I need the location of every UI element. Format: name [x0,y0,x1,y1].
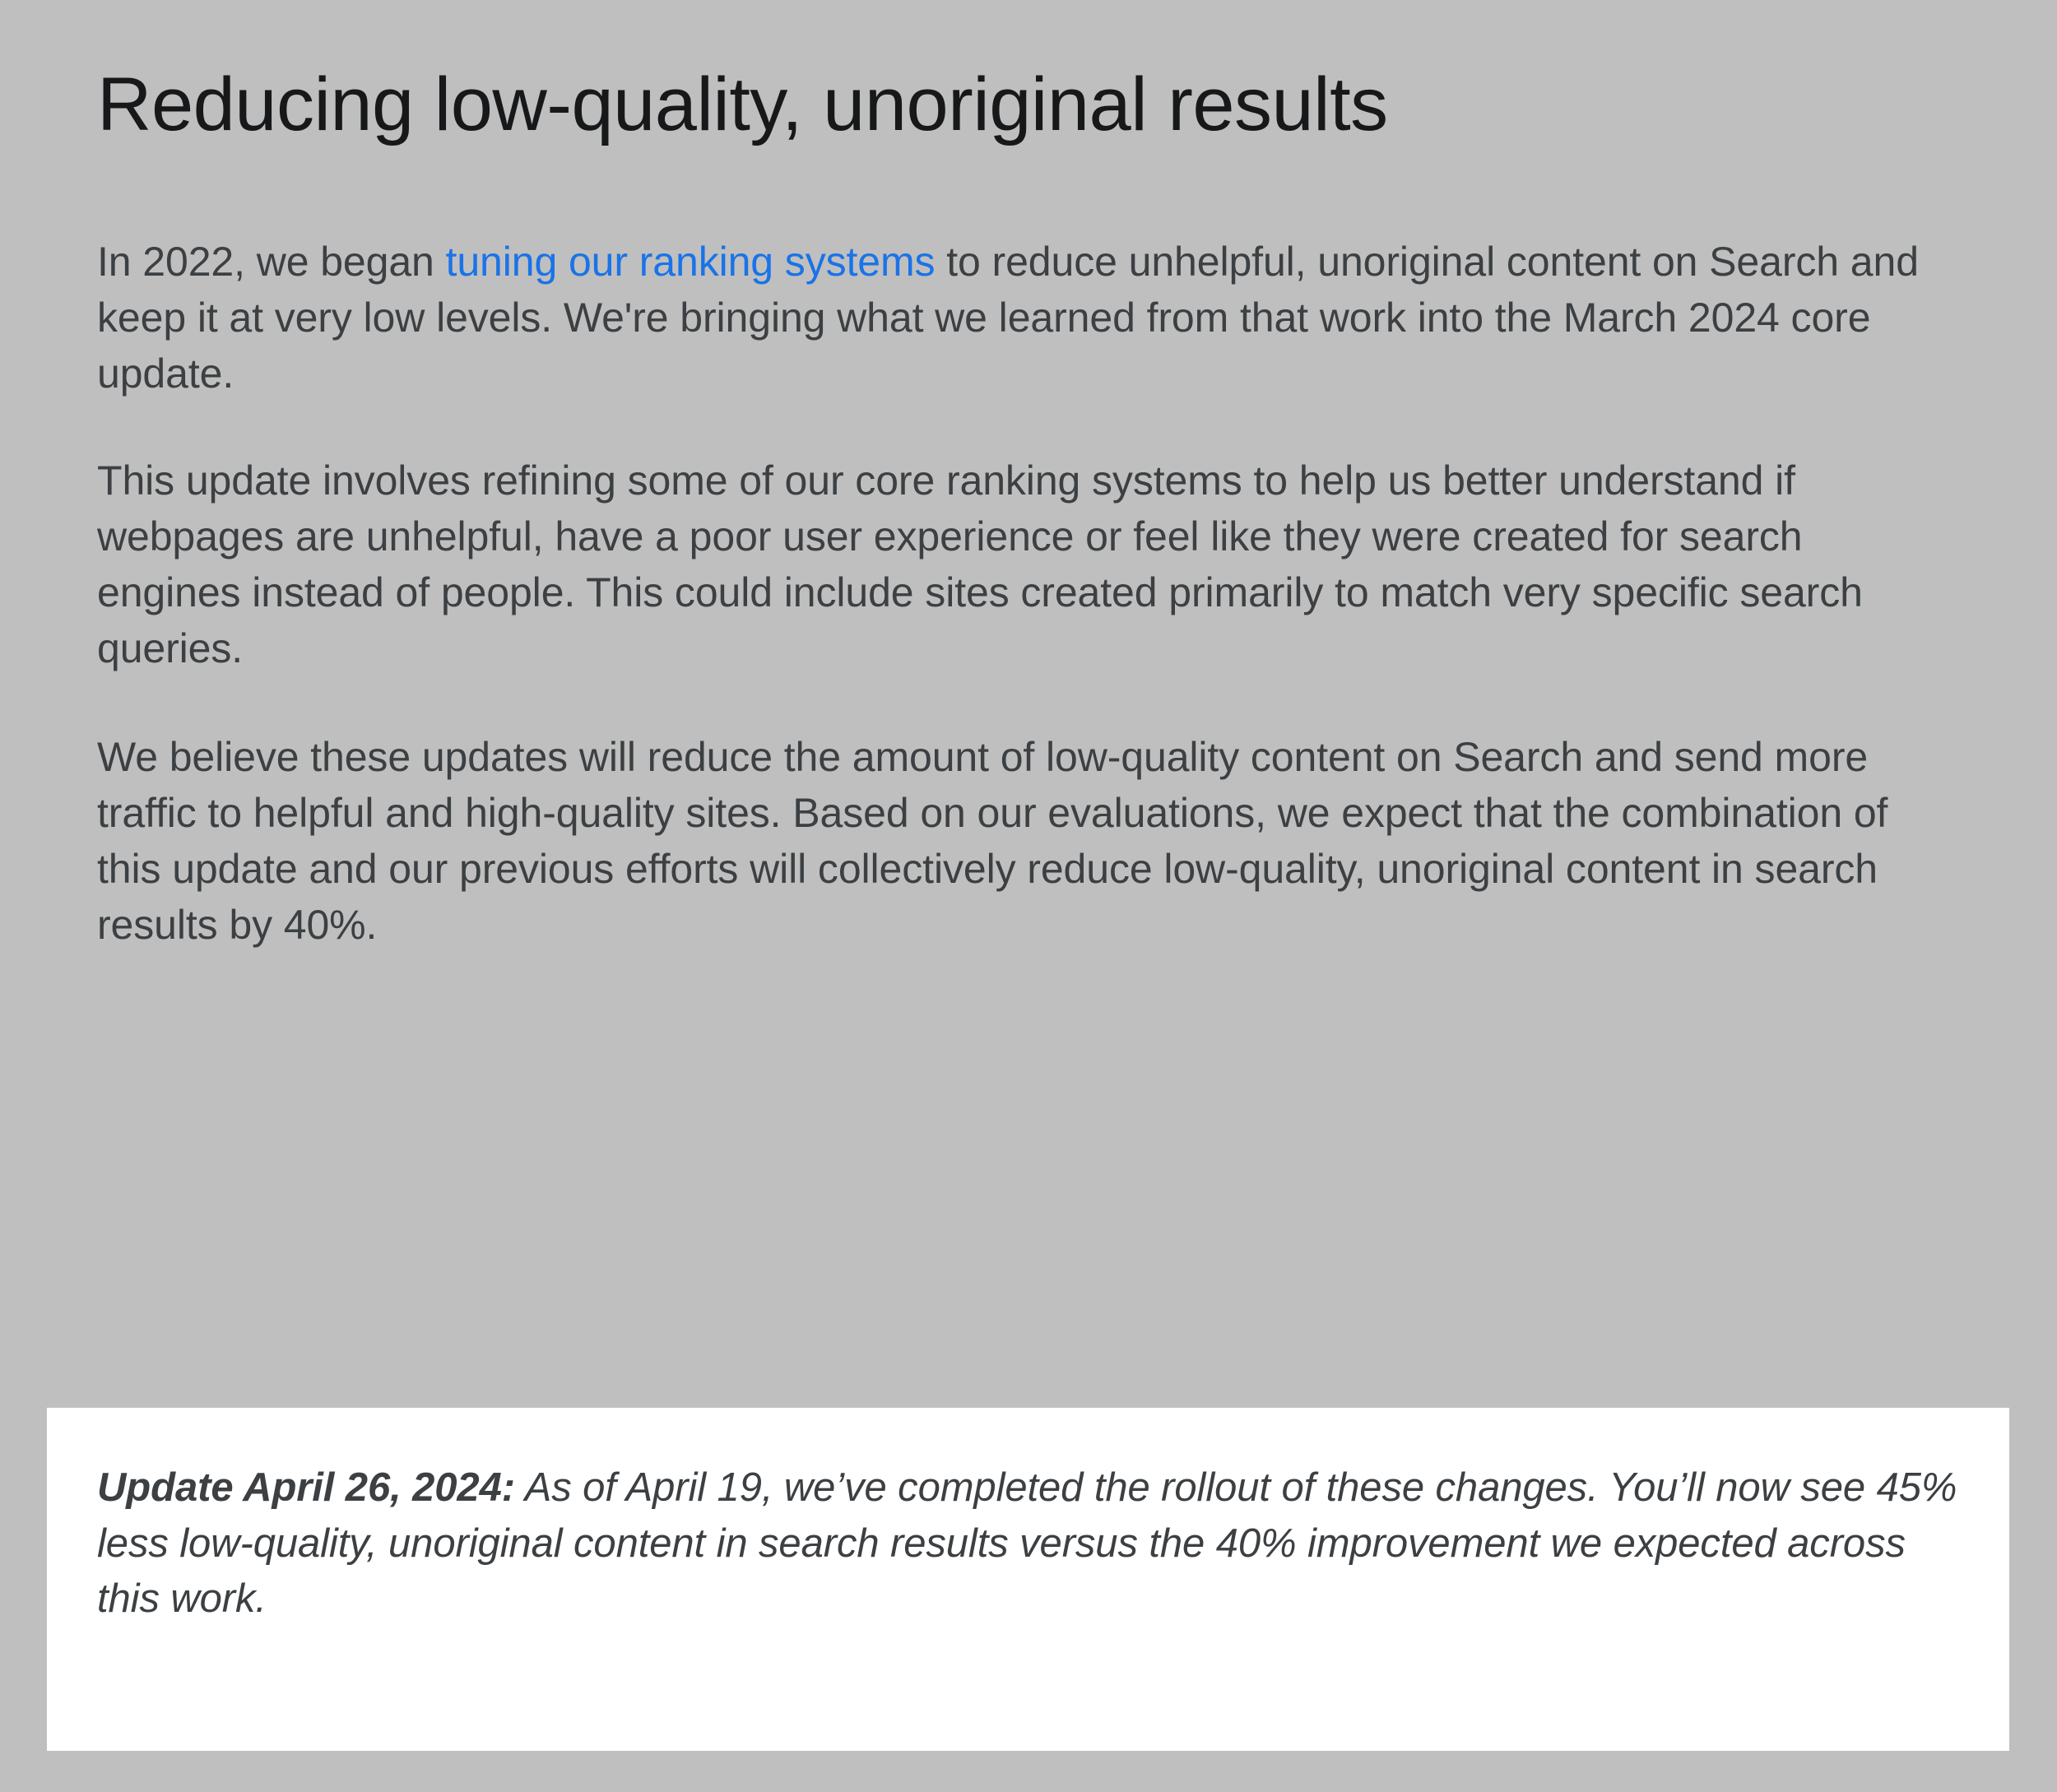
page-title: Reducing low-quality, unoriginal results [97,0,1990,146]
update-callout-box: Update April 26, 2024: As of April 19, w… [47,1408,2009,1751]
paragraph-intro-text-before-link: In 2022, we began [97,239,446,285]
article-content: Reducing low-quality, unoriginal results… [97,0,1990,953]
paragraph-expected-impact: We believe these updates will reduce the… [97,676,1957,953]
paragraph-intro: In 2022, we began tuning our ranking sys… [97,146,1957,402]
update-callout-text: Update April 26, 2024: As of April 19, w… [97,1460,1961,1627]
paragraph-update-details: This update involves refining some of ou… [97,402,1957,676]
article-page: Reducing low-quality, unoriginal results… [0,0,2057,1792]
update-callout-label: Update April 26, 2024: [97,1465,515,1510]
tuning-ranking-systems-link[interactable]: tuning our ranking systems [446,239,936,285]
